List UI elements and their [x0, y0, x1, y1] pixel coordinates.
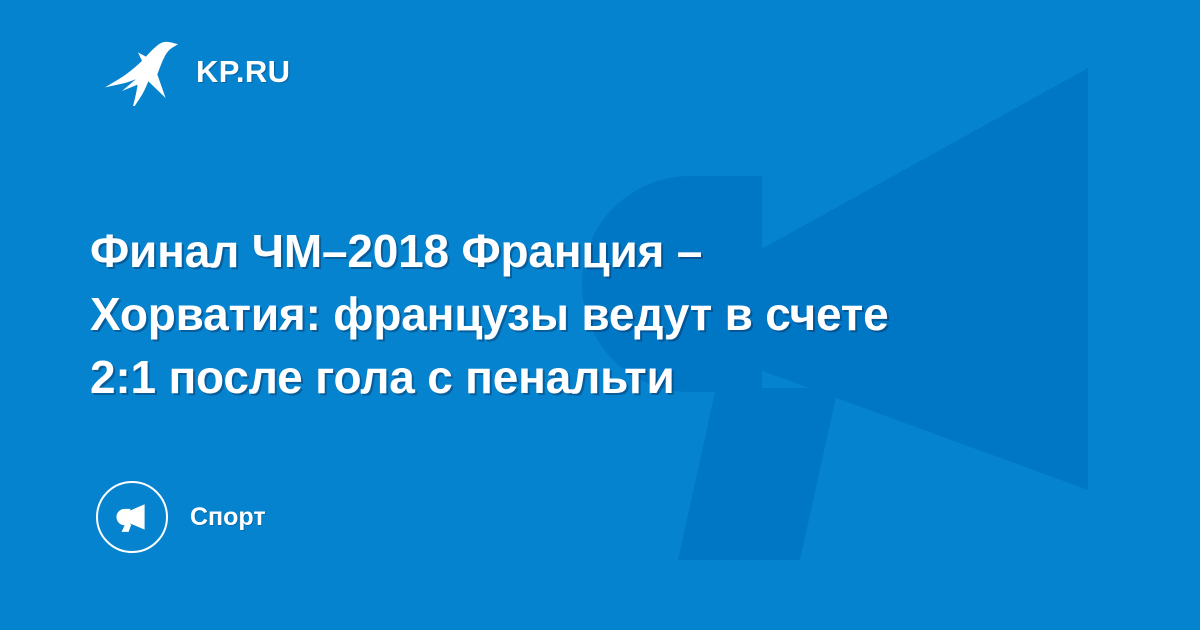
rubric-badge	[96, 481, 168, 553]
headline-line-3: 2:1 после гола с пенальти	[90, 346, 1100, 409]
megaphone-icon	[112, 497, 152, 537]
swallow-bird-icon	[104, 36, 178, 106]
page-title: Финал ЧМ–2018 Франция – Хорватия: францу…	[90, 220, 1100, 409]
headline-line-2: Хорватия: французы ведут в счете	[90, 283, 1100, 346]
social-share-card: KP.RU Финал ЧМ–2018 Франция – Хорватия: …	[0, 0, 1200, 630]
rubric-sport[interactable]: Спорт	[96, 481, 266, 553]
headline-line-1: Финал ЧМ–2018 Франция –	[90, 220, 1100, 283]
rubric-label: Спорт	[190, 505, 266, 530]
brand-wordmark: KP.RU	[196, 56, 290, 87]
brand-bar[interactable]: KP.RU	[104, 36, 290, 106]
